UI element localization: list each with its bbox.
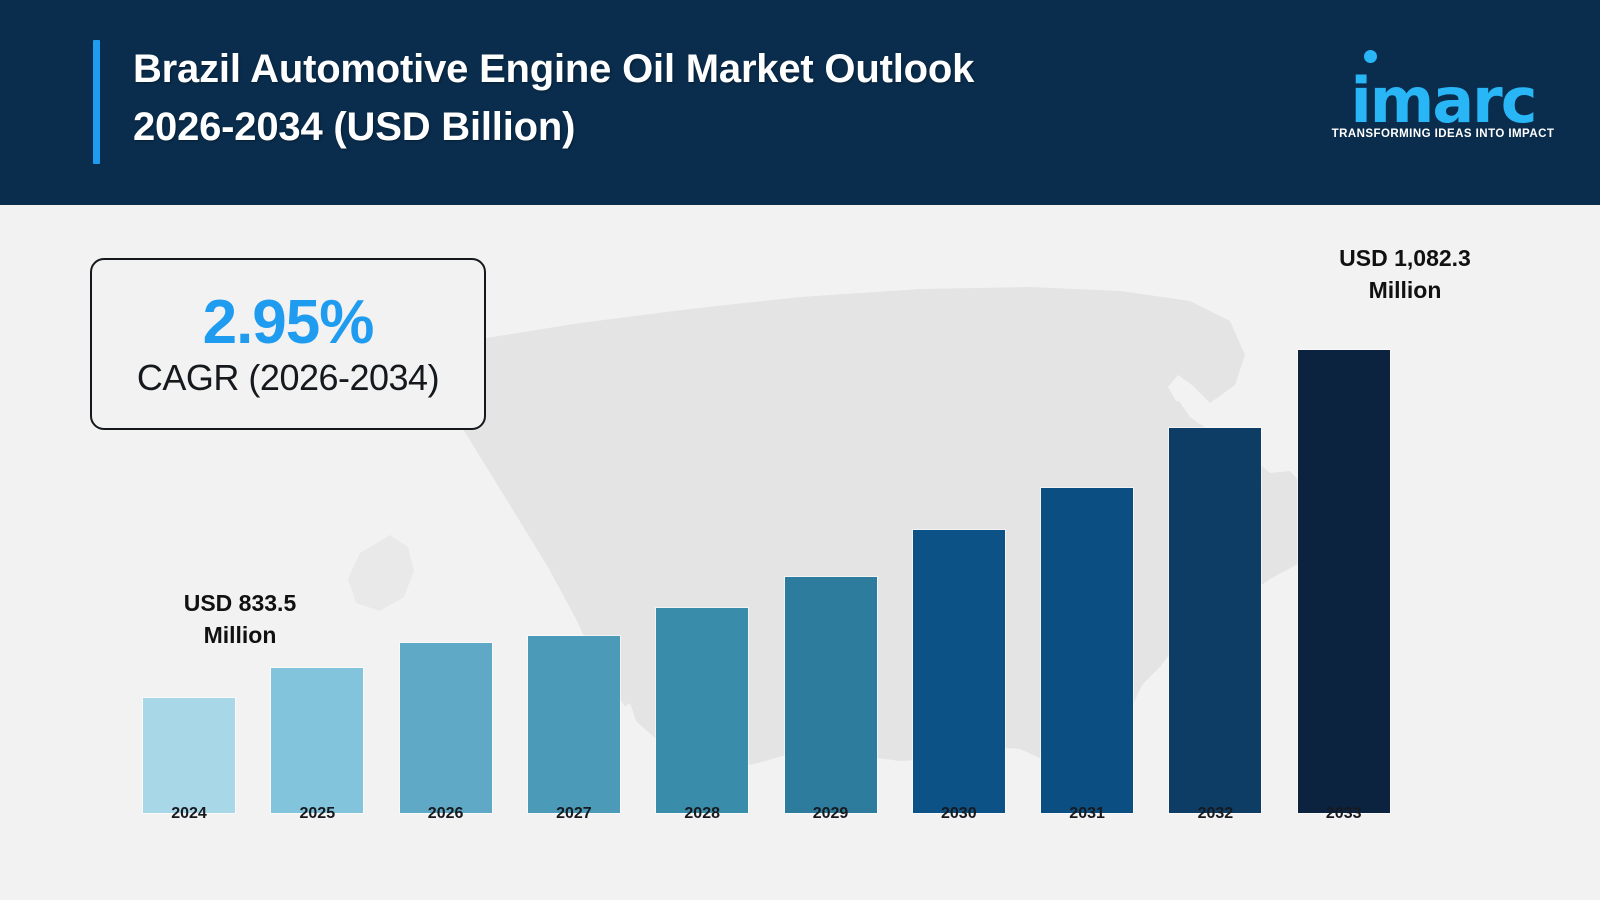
- x-axis-label-2033: 2033: [1298, 805, 1390, 823]
- bar-2033: [1298, 350, 1390, 813]
- x-axis-label-2029: 2029: [785, 805, 877, 823]
- x-axis-label-2027: 2027: [528, 805, 620, 823]
- bar-2028: [656, 608, 748, 813]
- x-axis-label-2026: 2026: [400, 805, 492, 823]
- bar-2027: [528, 636, 620, 813]
- bar-chart: 2024202520262027202820292030203120322033: [0, 0, 1600, 900]
- bar-2025: [271, 668, 363, 813]
- bar-2030: [913, 530, 1005, 813]
- bar-2029: [785, 577, 877, 813]
- infographic-page: Brazil Automotive Engine Oil Market Outl…: [0, 0, 1600, 900]
- bar-2032: [1169, 428, 1261, 813]
- bar-2031: [1041, 488, 1133, 813]
- x-axis-label-2024: 2024: [143, 805, 235, 823]
- x-axis-label-2031: 2031: [1041, 805, 1133, 823]
- x-axis-label-2028: 2028: [656, 805, 748, 823]
- bar-2026: [400, 643, 492, 813]
- x-axis-label-2030: 2030: [913, 805, 1005, 823]
- x-axis-label-2032: 2032: [1169, 805, 1261, 823]
- x-axis-label-2025: 2025: [271, 805, 363, 823]
- bar-2024: [143, 698, 235, 813]
